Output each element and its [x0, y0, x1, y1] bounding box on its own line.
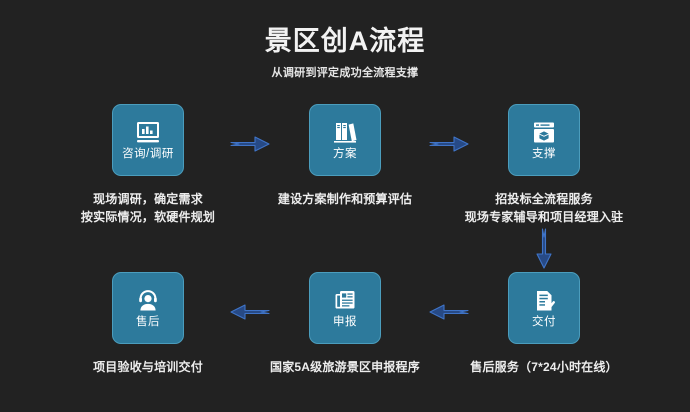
- caption-line-2: 按实际情况，软硬件规划: [48, 208, 248, 226]
- step-card-plan[interactable]: 方案: [309, 104, 381, 176]
- step-label: 售后: [136, 317, 160, 329]
- step-card-delivery[interactable]: 交付: [508, 272, 580, 344]
- step-caption: 国家5A级旅游景区申报程序: [245, 358, 445, 376]
- caption-line-1: 招投标全流程服务: [444, 190, 644, 208]
- caption-line-1: 现场调研，确定需求: [48, 190, 248, 208]
- caption-line-1: 项目验收与培训交付: [48, 358, 248, 376]
- connector-arrow-1: [228, 131, 272, 157]
- flow-step-1[interactable]: 咨询/调研 现场调研，确定需求 按实际情况，软硬件规划: [48, 104, 248, 226]
- caption-line-2: 现场专家辅导和项目经理入驻: [444, 208, 644, 226]
- step-label: 咨询/调研: [122, 149, 174, 161]
- window-cube-icon: [530, 120, 558, 146]
- step-caption: 项目验收与培训交付: [48, 358, 248, 376]
- step-label: 交付: [532, 317, 556, 329]
- documents-stack-icon: [331, 288, 359, 314]
- step-card-consulting[interactable]: 咨询/调研: [112, 104, 184, 176]
- flow-diagram-page: 景区创A流程 从调研到评定成功全流程支撑 咨询/调研: [0, 0, 690, 412]
- step-card-application[interactable]: 申报: [309, 272, 381, 344]
- flow-step-4[interactable]: 交付 售后服务（7*24小时在线）: [444, 272, 644, 376]
- arrow-right-icon: [427, 131, 471, 157]
- connector-arrow-5: [228, 299, 272, 325]
- connector-arrow-4: [427, 299, 471, 325]
- caption-line-1: 建设方案制作和预算评估: [245, 190, 445, 208]
- step-card-aftersales[interactable]: 售后: [112, 272, 184, 344]
- flow-step-2[interactable]: 方案 建设方案制作和预算评估: [245, 104, 445, 208]
- flow-step-3[interactable]: 支撑 招投标全流程服务 现场专家辅导和项目经理入驻: [444, 104, 644, 226]
- bar-chart-report-icon: [134, 120, 162, 146]
- connector-arrow-2: [427, 131, 471, 157]
- arrow-down-icon: [531, 226, 557, 272]
- step-caption: 售后服务（7*24小时在线）: [444, 358, 644, 376]
- flow-step-6[interactable]: 售后 项目验收与培训交付: [48, 272, 248, 376]
- headset-support-icon: [134, 288, 162, 314]
- arrow-right-icon: [228, 131, 272, 157]
- step-label: 支撑: [532, 149, 556, 161]
- step-card-support[interactable]: 支撑: [508, 104, 580, 176]
- step-caption: 现场调研，确定需求 按实际情况，软硬件规划: [48, 190, 248, 226]
- step-caption: 建设方案制作和预算评估: [245, 190, 445, 208]
- arrow-left-icon: [427, 299, 471, 325]
- page-title: 景区创A流程: [0, 26, 690, 57]
- books-icon: [331, 120, 359, 146]
- step-label: 申报: [333, 317, 357, 329]
- arrow-left-icon: [228, 299, 272, 325]
- document-check-icon: [530, 288, 558, 314]
- caption-line-1: 国家5A级旅游景区申报程序: [245, 358, 445, 376]
- flow-step-5[interactable]: 申报 国家5A级旅游景区申报程序: [245, 272, 445, 376]
- step-caption: 招投标全流程服务 现场专家辅导和项目经理入驻: [444, 190, 644, 226]
- step-label: 方案: [333, 149, 357, 161]
- page-header: 景区创A流程 从调研到评定成功全流程支撑: [0, 26, 690, 80]
- connector-arrow-3: [531, 226, 557, 272]
- page-subtitle: 从调研到评定成功全流程支撑: [0, 64, 690, 80]
- caption-line-1: 售后服务（7*24小时在线）: [444, 358, 644, 376]
